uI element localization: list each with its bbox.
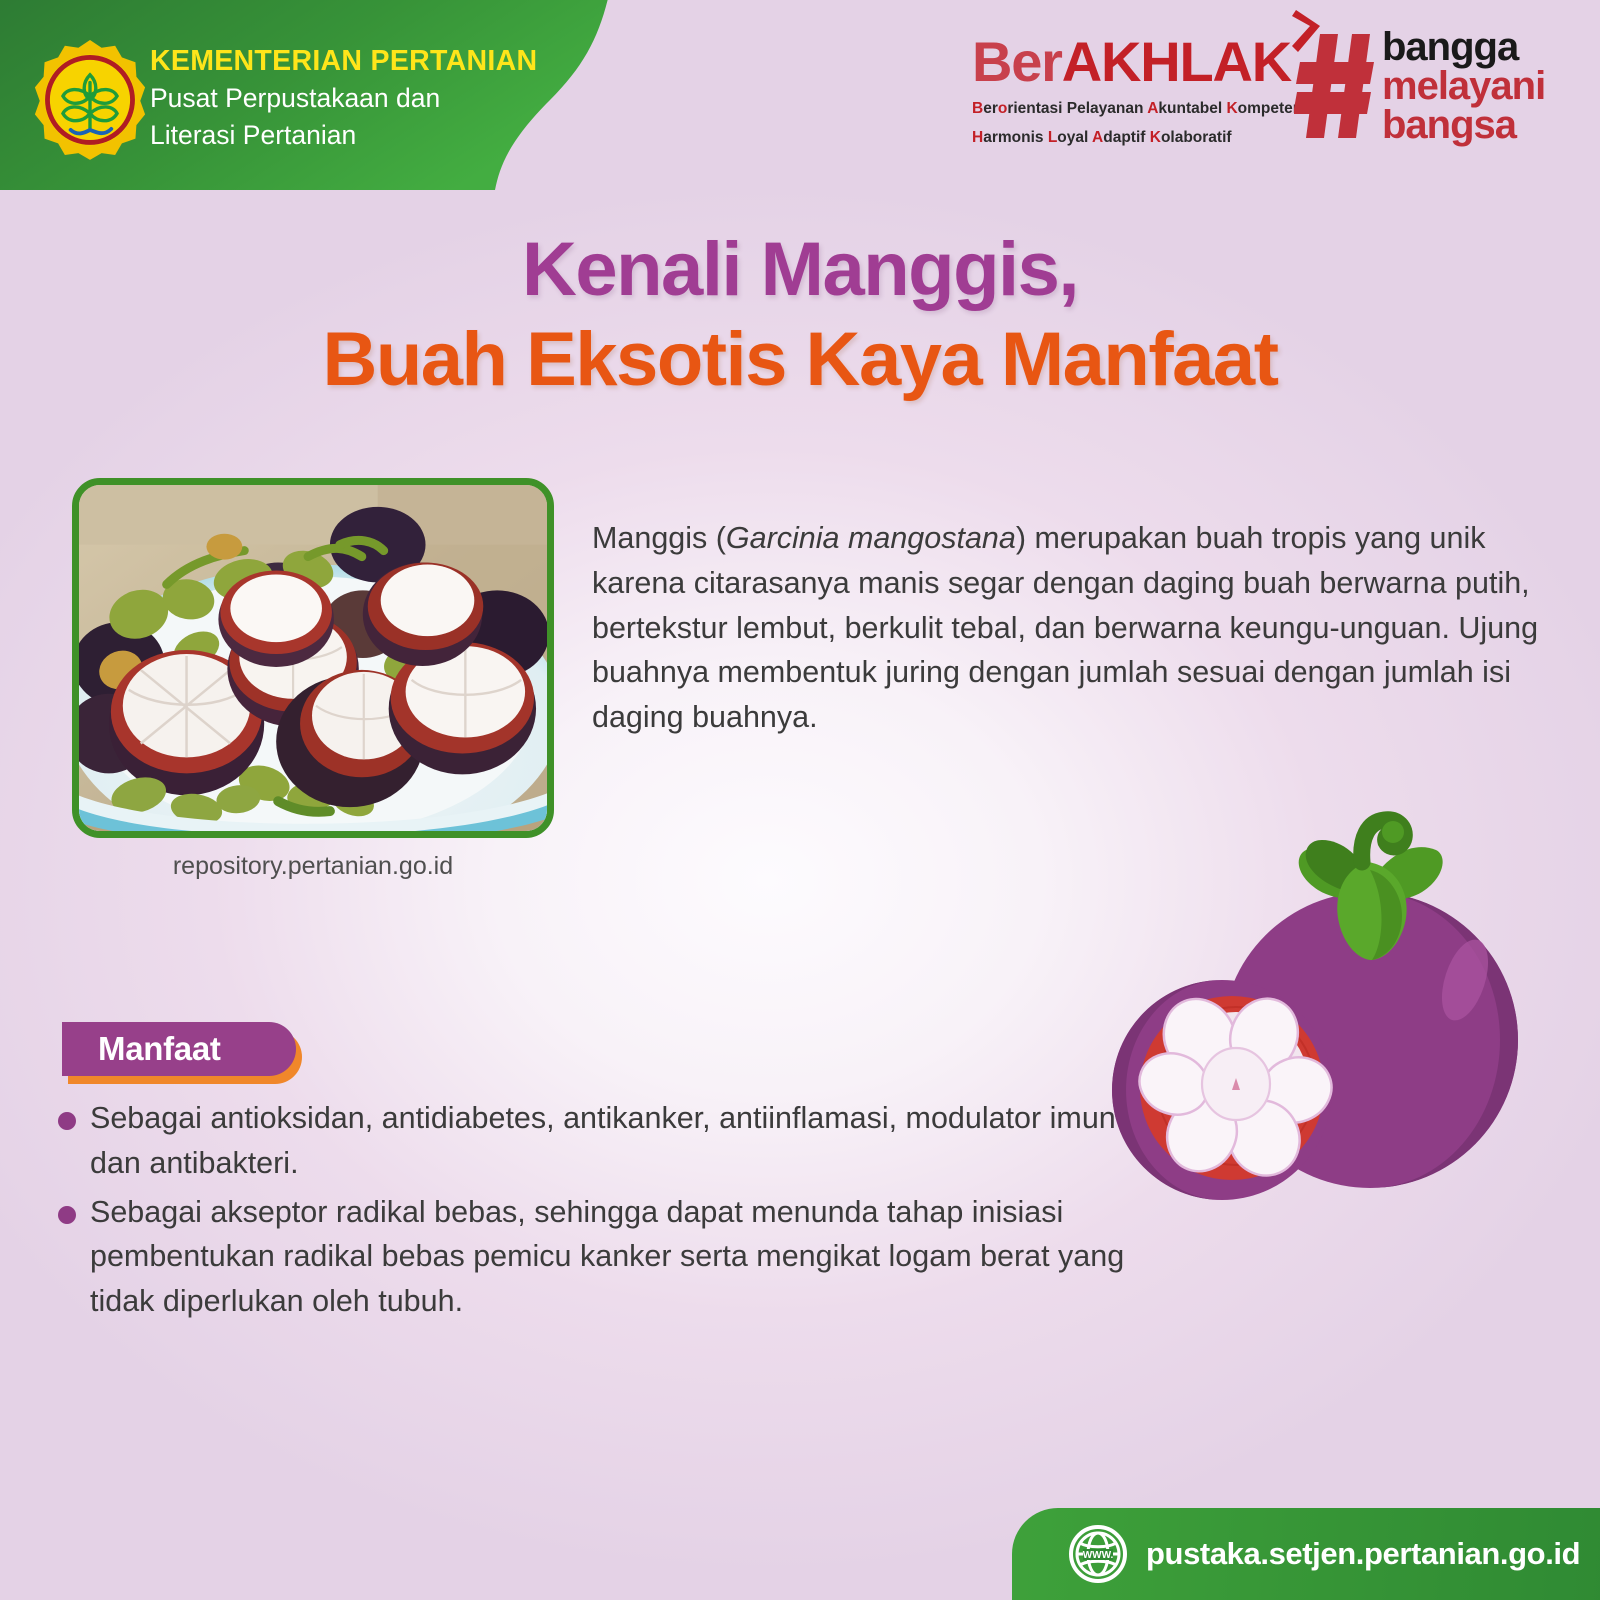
title-line-1: Kenali Manggis, [0,228,1600,312]
bangga-line-1: bangga [1382,28,1545,67]
intro-paragraph: Manggis (Garcinia mangostana) merupakan … [592,516,1542,740]
list-item-text: Sebagai akseptor radikal bebas, sehingga… [90,1190,1128,1324]
svg-text:WWW.: WWW. [1083,1550,1114,1561]
berakhlak-wordmark: BerAKHLAK [972,34,1292,90]
mangosteen-illustration [1050,790,1550,1210]
bullet-dot-icon [58,1112,76,1130]
ministry-subtitle-line1: Pusat Perpustakaan dan [150,81,570,116]
infographic-poster: KEMENTERIAN PERTANIAN Pusat Perpustakaan… [0,0,1600,1600]
manfaat-label: Manfaat [62,1030,221,1068]
list-item: Sebagai antioksidan, antidiabetes, antik… [58,1096,1128,1186]
ministry-name-block: KEMENTERIAN PERTANIAN Pusat Perpustakaan… [150,45,570,153]
hashtag-icon [1294,32,1376,140]
manfaat-section-header: Manfaat [62,1022,302,1084]
berakhlak-values-line1: Berorientasi Pelayanan Akuntabel Kompete… [972,98,1292,119]
list-item: Sebagai akseptor radikal bebas, sehingga… [58,1190,1128,1324]
kementan-seal-icon [32,36,148,160]
manfaat-list: Sebagai antioksidan, antidiabetes, antik… [58,1096,1128,1328]
ministry-subtitle-line2: Literasi Pertanian [150,118,570,153]
footer-url-text: pustaka.setjen.pertanian.go.id [1146,1536,1580,1572]
species-name: Garcinia mangostana [726,521,1016,555]
bullet-dot-icon [58,1206,76,1224]
berakhlak-prefix: Ber [972,30,1062,93]
title-line-2: Buah Eksotis Kaya Manfaat [0,318,1600,402]
ministry-title: KEMENTERIAN PERTANIAN [150,45,570,79]
bangga-melayani-bangsa-logo: bangga melayani bangsa [1294,28,1545,144]
globe-www-icon: WWW. [1068,1524,1128,1584]
page-title: Kenali Manggis, Buah Eksotis Kaya Manfaa… [0,228,1600,401]
footer-url-bar[interactable]: WWW. pustaka.setjen.pertanian.go.id [1012,1508,1600,1600]
berakhlak-main: AKHLAK [1062,30,1291,93]
berakhlak-values-line2: Harmonis Loyal Adaptif Kolaboratif [972,127,1292,148]
bangga-line-2: melayani [1382,67,1545,106]
photo-caption: repository.pertanian.go.id [72,852,554,881]
bangga-line-3: bangsa [1382,106,1545,145]
berakhlak-logo: BerAKHLAK Berorientasi Pelayanan Akuntab… [972,34,1292,149]
bangga-text-block: bangga melayani bangsa [1382,28,1545,144]
list-item-text: Sebagai antioksidan, antidiabetes, antik… [90,1096,1128,1186]
manfaat-badge: Manfaat [62,1022,296,1076]
mangosteen-photo [72,478,554,838]
paragraph-part-1: Manggis ( [592,521,726,555]
